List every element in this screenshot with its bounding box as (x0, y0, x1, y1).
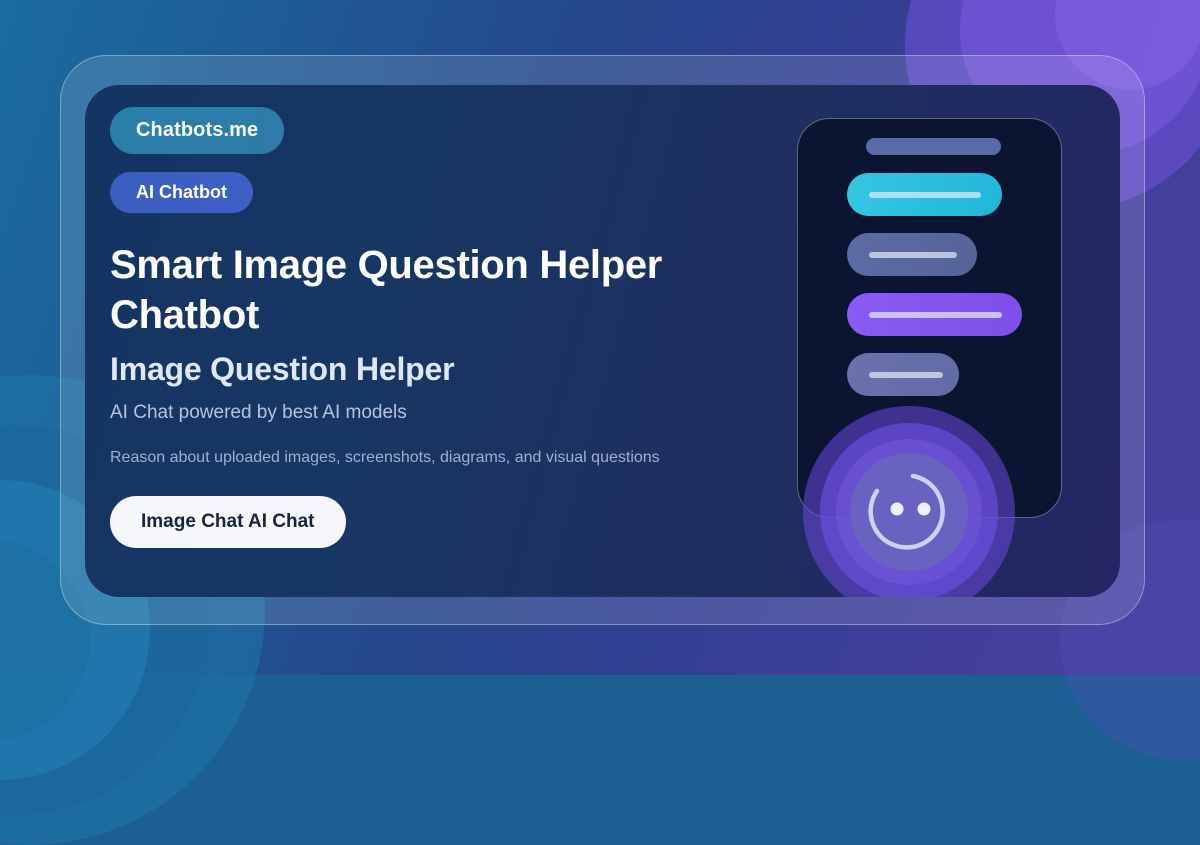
page-subtitle: Image Question Helper (110, 351, 750, 388)
smiley-face-icon (850, 453, 968, 571)
chat-bubble-outgoing-1 (847, 233, 977, 276)
chat-bubble-incoming-1 (847, 173, 1002, 216)
chat-bubble-text-placeholder (869, 312, 1002, 318)
chat-bubble-incoming-2 (847, 293, 1022, 336)
phone-header-bar (866, 138, 1001, 155)
hero-text-column: Chatbots.me AI Chatbot Smart Image Quest… (110, 107, 750, 548)
avatar (803, 406, 1015, 597)
brand-badge[interactable]: Chatbots.me (110, 107, 284, 154)
page-title: Smart Image Question Helper Chatbot (110, 240, 730, 341)
description-text: Reason about uploaded images, screenshot… (110, 443, 720, 473)
category-badge[interactable]: AI Chatbot (110, 172, 253, 213)
chat-bubble-text-placeholder (869, 252, 957, 258)
hero-card: Chatbots.me AI Chatbot Smart Image Quest… (85, 85, 1120, 597)
chat-bubble-list (798, 173, 1061, 413)
tagline-text: AI Chat powered by best AI models (110, 402, 750, 424)
hero-illustration (785, 105, 1105, 597)
chat-bubble-text-placeholder (869, 372, 943, 378)
chat-bubble-outgoing-2 (847, 353, 959, 396)
chat-bubble-text-placeholder (869, 192, 981, 198)
cta-button[interactable]: Image Chat AI Chat (110, 496, 346, 548)
